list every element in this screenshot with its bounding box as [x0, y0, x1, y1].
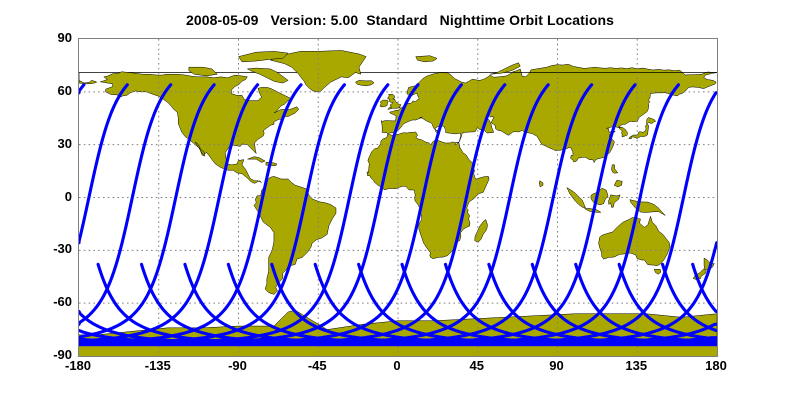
x-tick-label: -180 [38, 359, 118, 372]
x-tick-label: -90 [198, 359, 278, 372]
orbit-map-figure: 2008-05-09 Version: 5.00 Standard Nightt… [0, 0, 800, 400]
landmass-cuba [248, 157, 266, 163]
y-tick-label: 90 [4, 31, 72, 44]
x-axis-labels: -180-135-90-4504590135180 [0, 359, 800, 379]
landmass-ireland [380, 100, 388, 107]
landmass-madagascar [475, 220, 488, 243]
y-tick-label: 60 [4, 84, 72, 97]
y-tick-label: -30 [4, 242, 72, 255]
polar-convergence-band [79, 340, 717, 346]
landmass-south-america [254, 176, 336, 294]
y-axis-labels: 9060300-30-60-90 [0, 0, 72, 400]
y-tick-label: 0 [4, 190, 72, 203]
landmass-sri-lanka [539, 181, 543, 187]
x-tick-label: -135 [118, 359, 198, 372]
landmass-tasmania [654, 269, 661, 274]
landmass-iceland [355, 80, 374, 85]
x-tick-label: 180 [676, 359, 756, 372]
y-tick-label: -60 [4, 295, 72, 308]
figure-title: 2008-05-09 Version: 5.00 Standard Nightt… [0, 12, 800, 28]
landmass-philippines [612, 165, 618, 173]
orbit-track-descending-8 [79, 85, 127, 243]
x-tick-label: 135 [596, 359, 676, 372]
landmass-mindanao [614, 180, 622, 187]
landmass-britain [388, 94, 401, 109]
landmass-sulawesi [609, 195, 621, 208]
x-tick-label: 90 [517, 359, 597, 372]
landmass-svalbard [416, 56, 437, 62]
landmass-hokkaido [647, 117, 656, 124]
orbit-track-descending-10 [79, 85, 214, 338]
x-tick-label: -45 [277, 359, 357, 372]
orbit-track-descending-9 [79, 85, 171, 325]
orbit-track-descending-7 [79, 85, 84, 93]
map-canvas [79, 39, 717, 356]
landmass-japan [629, 124, 649, 138]
landmass-victoria [189, 67, 217, 76]
y-tick-label: 30 [4, 137, 72, 150]
x-tick-label: 0 [357, 359, 437, 372]
x-tick-label: 45 [437, 359, 517, 372]
landmass-baffin [247, 68, 288, 83]
plot-area [78, 38, 718, 357]
